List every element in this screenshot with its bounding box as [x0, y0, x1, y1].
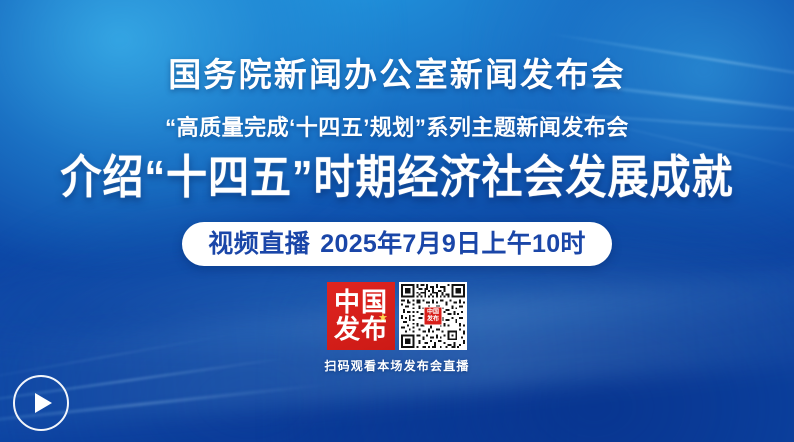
live-badge-datetime: 2025年7月9日上午10时	[320, 232, 585, 257]
qr-row: 中国 发布 ★	[327, 282, 467, 350]
poster-content: 国务院新闻办公室新闻发布会 “高质量完成‘十四五’规划”系列主题新闻发布会 介绍…	[0, 0, 794, 442]
china-release-logo: 中国 发布 ★	[327, 282, 395, 350]
star-icon: ★	[378, 313, 389, 324]
qr-code[interactable]: 中国 发布	[399, 282, 467, 350]
qr-caption: 扫码观看本场发布会直播	[324, 357, 469, 374]
qr-center-line2: 发布	[427, 316, 439, 323]
live-schedule-badge: 视频直播 2025年7月9日上午10时	[182, 222, 611, 266]
qr-center-line1: 中国	[427, 309, 439, 316]
qr-center-logo: 中国 发布	[423, 307, 442, 326]
brand-logo-line2: 发布 ★	[334, 316, 388, 343]
play-icon	[35, 393, 52, 413]
live-stream-poster: 国务院新闻办公室新闻发布会 “高质量完成‘十四五’规划”系列主题新闻发布会 介绍…	[0, 0, 794, 442]
headline: 介绍“十四五”时期经济社会发展成就	[61, 155, 734, 201]
play-button[interactable]	[13, 375, 69, 431]
page-title: 国务院新闻办公室新闻发布会	[168, 58, 626, 91]
qr-section: 中国 发布 ★	[324, 282, 469, 374]
live-badge-label: 视频直播	[208, 232, 310, 257]
series-subtitle: “高质量完成‘十四五’规划”系列主题新闻发布会	[165, 117, 629, 139]
